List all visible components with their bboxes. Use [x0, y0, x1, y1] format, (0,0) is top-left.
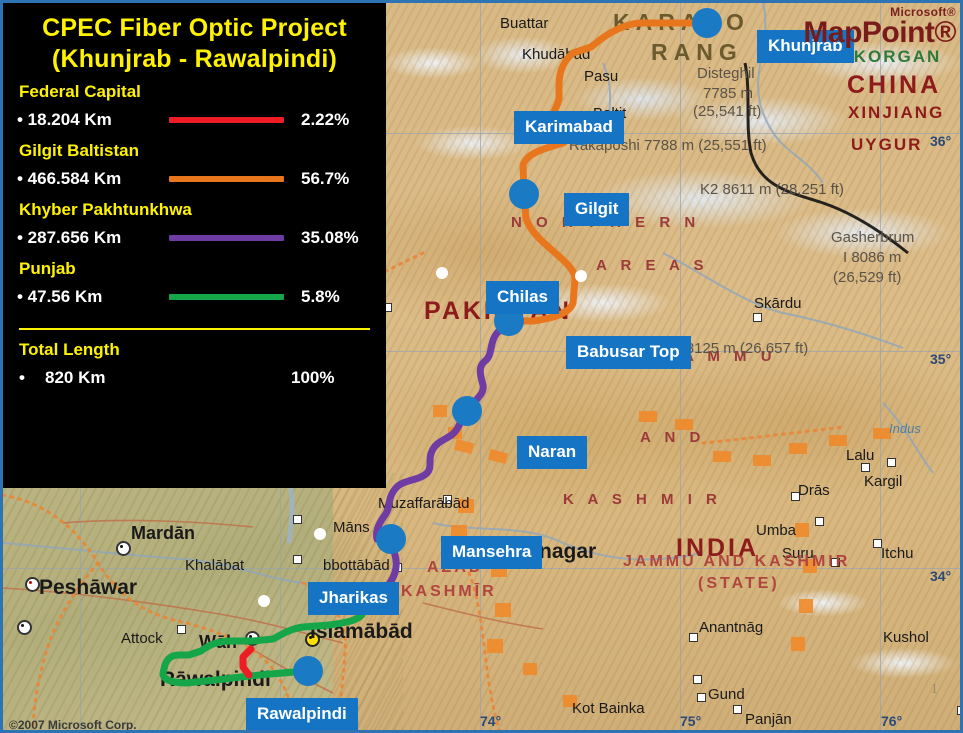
- map-callout-chilas[interactable]: Chilas: [486, 281, 559, 314]
- legend-swatch-wrap: [169, 176, 289, 182]
- map-callout-babusar-top[interactable]: Babusar Top: [566, 336, 691, 369]
- legend-percent-value: 35.08%: [301, 228, 359, 248]
- route-node-marker[interactable]: [452, 396, 482, 426]
- route-waypoint: [436, 267, 448, 279]
- legend-percent-value: 56.7%: [301, 169, 349, 189]
- legend-swatch-wrap: [169, 117, 289, 123]
- legend-length-value: • 18.204 Km: [17, 110, 169, 130]
- legend-group: Federal Capital• 18.204 Km2.22%: [17, 82, 372, 133]
- total-bullet: •: [19, 368, 33, 388]
- map-callout-rawalpindi[interactable]: Rawalpindi: [246, 698, 358, 731]
- legend-color-swatch: [169, 176, 284, 182]
- map-callout-jharikas[interactable]: Jharikas: [308, 582, 399, 615]
- legend-group-name: Khyber Pakhtunkhwa: [19, 200, 372, 220]
- total-length-value: 820 Km: [17, 368, 169, 388]
- legend-length-value: • 466.584 Km: [17, 169, 169, 189]
- legend-color-swatch: [169, 235, 284, 241]
- legend-group: Gilgit Baltistan• 466.584 Km56.7%: [17, 141, 372, 192]
- total-percent-value: 100%: [291, 368, 334, 388]
- legend-row: • 47.56 Km5.8%: [17, 284, 372, 310]
- legend-panel: CPEC Fiber Optic Project (Khunjrab - Raw…: [3, 3, 386, 488]
- copyright-notice: ©2007 Microsoft Corp.: [9, 718, 137, 732]
- mappoint-logo: Microsoft® MapPoint®: [803, 5, 956, 48]
- total-length-label: Total Length: [19, 340, 372, 360]
- route-federal-capital: [243, 649, 251, 675]
- legend-group-name: Federal Capital: [19, 82, 372, 102]
- route-waypoint: [258, 595, 270, 607]
- map-callout-karimabad[interactable]: Karimabad: [514, 111, 624, 144]
- legend-divider: [19, 328, 370, 330]
- page-number: 1: [931, 681, 939, 698]
- legend-group: Khyber Pakhtunkhwa• 287.656 Km35.08%: [17, 200, 372, 251]
- map-callout-mansehra[interactable]: Mansehra: [441, 536, 542, 569]
- legend-row: • 287.656 Km35.08%: [17, 225, 372, 251]
- route-node-marker[interactable]: [376, 524, 406, 554]
- legend-group: Punjab• 47.56 Km5.8%: [17, 259, 372, 310]
- map-callout-naran[interactable]: Naran: [517, 436, 587, 469]
- legend-group-name: Gilgit Baltistan: [19, 141, 372, 161]
- legend-groups: Federal Capital• 18.204 Km2.22%Gilgit Ba…: [17, 82, 372, 310]
- route-gilgit-baltistan: [509, 23, 707, 321]
- route-node-marker[interactable]: [293, 656, 323, 686]
- legend-length-value: • 287.656 Km: [17, 228, 169, 248]
- legend-swatch-wrap: [169, 235, 289, 241]
- total-length-row: • 820 Km 100%: [17, 368, 372, 388]
- legend-percent-value: 2.22%: [301, 110, 349, 130]
- route-node-marker[interactable]: [509, 179, 539, 209]
- legend-row: • 18.204 Km2.22%: [17, 107, 372, 133]
- legend-length-value: • 47.56 Km: [17, 287, 169, 307]
- title-line-1: CPEC Fiber Optic Project: [42, 14, 347, 42]
- page-title: CPEC Fiber Optic Project (Khunjrab - Raw…: [17, 13, 372, 74]
- legend-swatch-wrap: [169, 294, 289, 300]
- legend-row: • 466.584 Km56.7%: [17, 166, 372, 192]
- legend-group-name: Punjab: [19, 259, 372, 279]
- route-waypoint: [575, 270, 587, 282]
- route-node-marker[interactable]: [692, 8, 722, 38]
- legend-percent-value: 5.8%: [301, 287, 340, 307]
- slide-canvas: BuattarKhudābādPasuBaltitSkārduMuzaffarā…: [0, 0, 963, 733]
- map-callout-gilgit[interactable]: Gilgit: [564, 193, 629, 226]
- legend-color-swatch: [169, 294, 284, 300]
- legend-color-swatch: [169, 117, 284, 123]
- mappoint-wordmark: MapPoint®: [803, 19, 956, 48]
- route-waypoint: [314, 528, 326, 540]
- title-line-2: (Khunjrab - Rawalpindi): [17, 44, 372, 75]
